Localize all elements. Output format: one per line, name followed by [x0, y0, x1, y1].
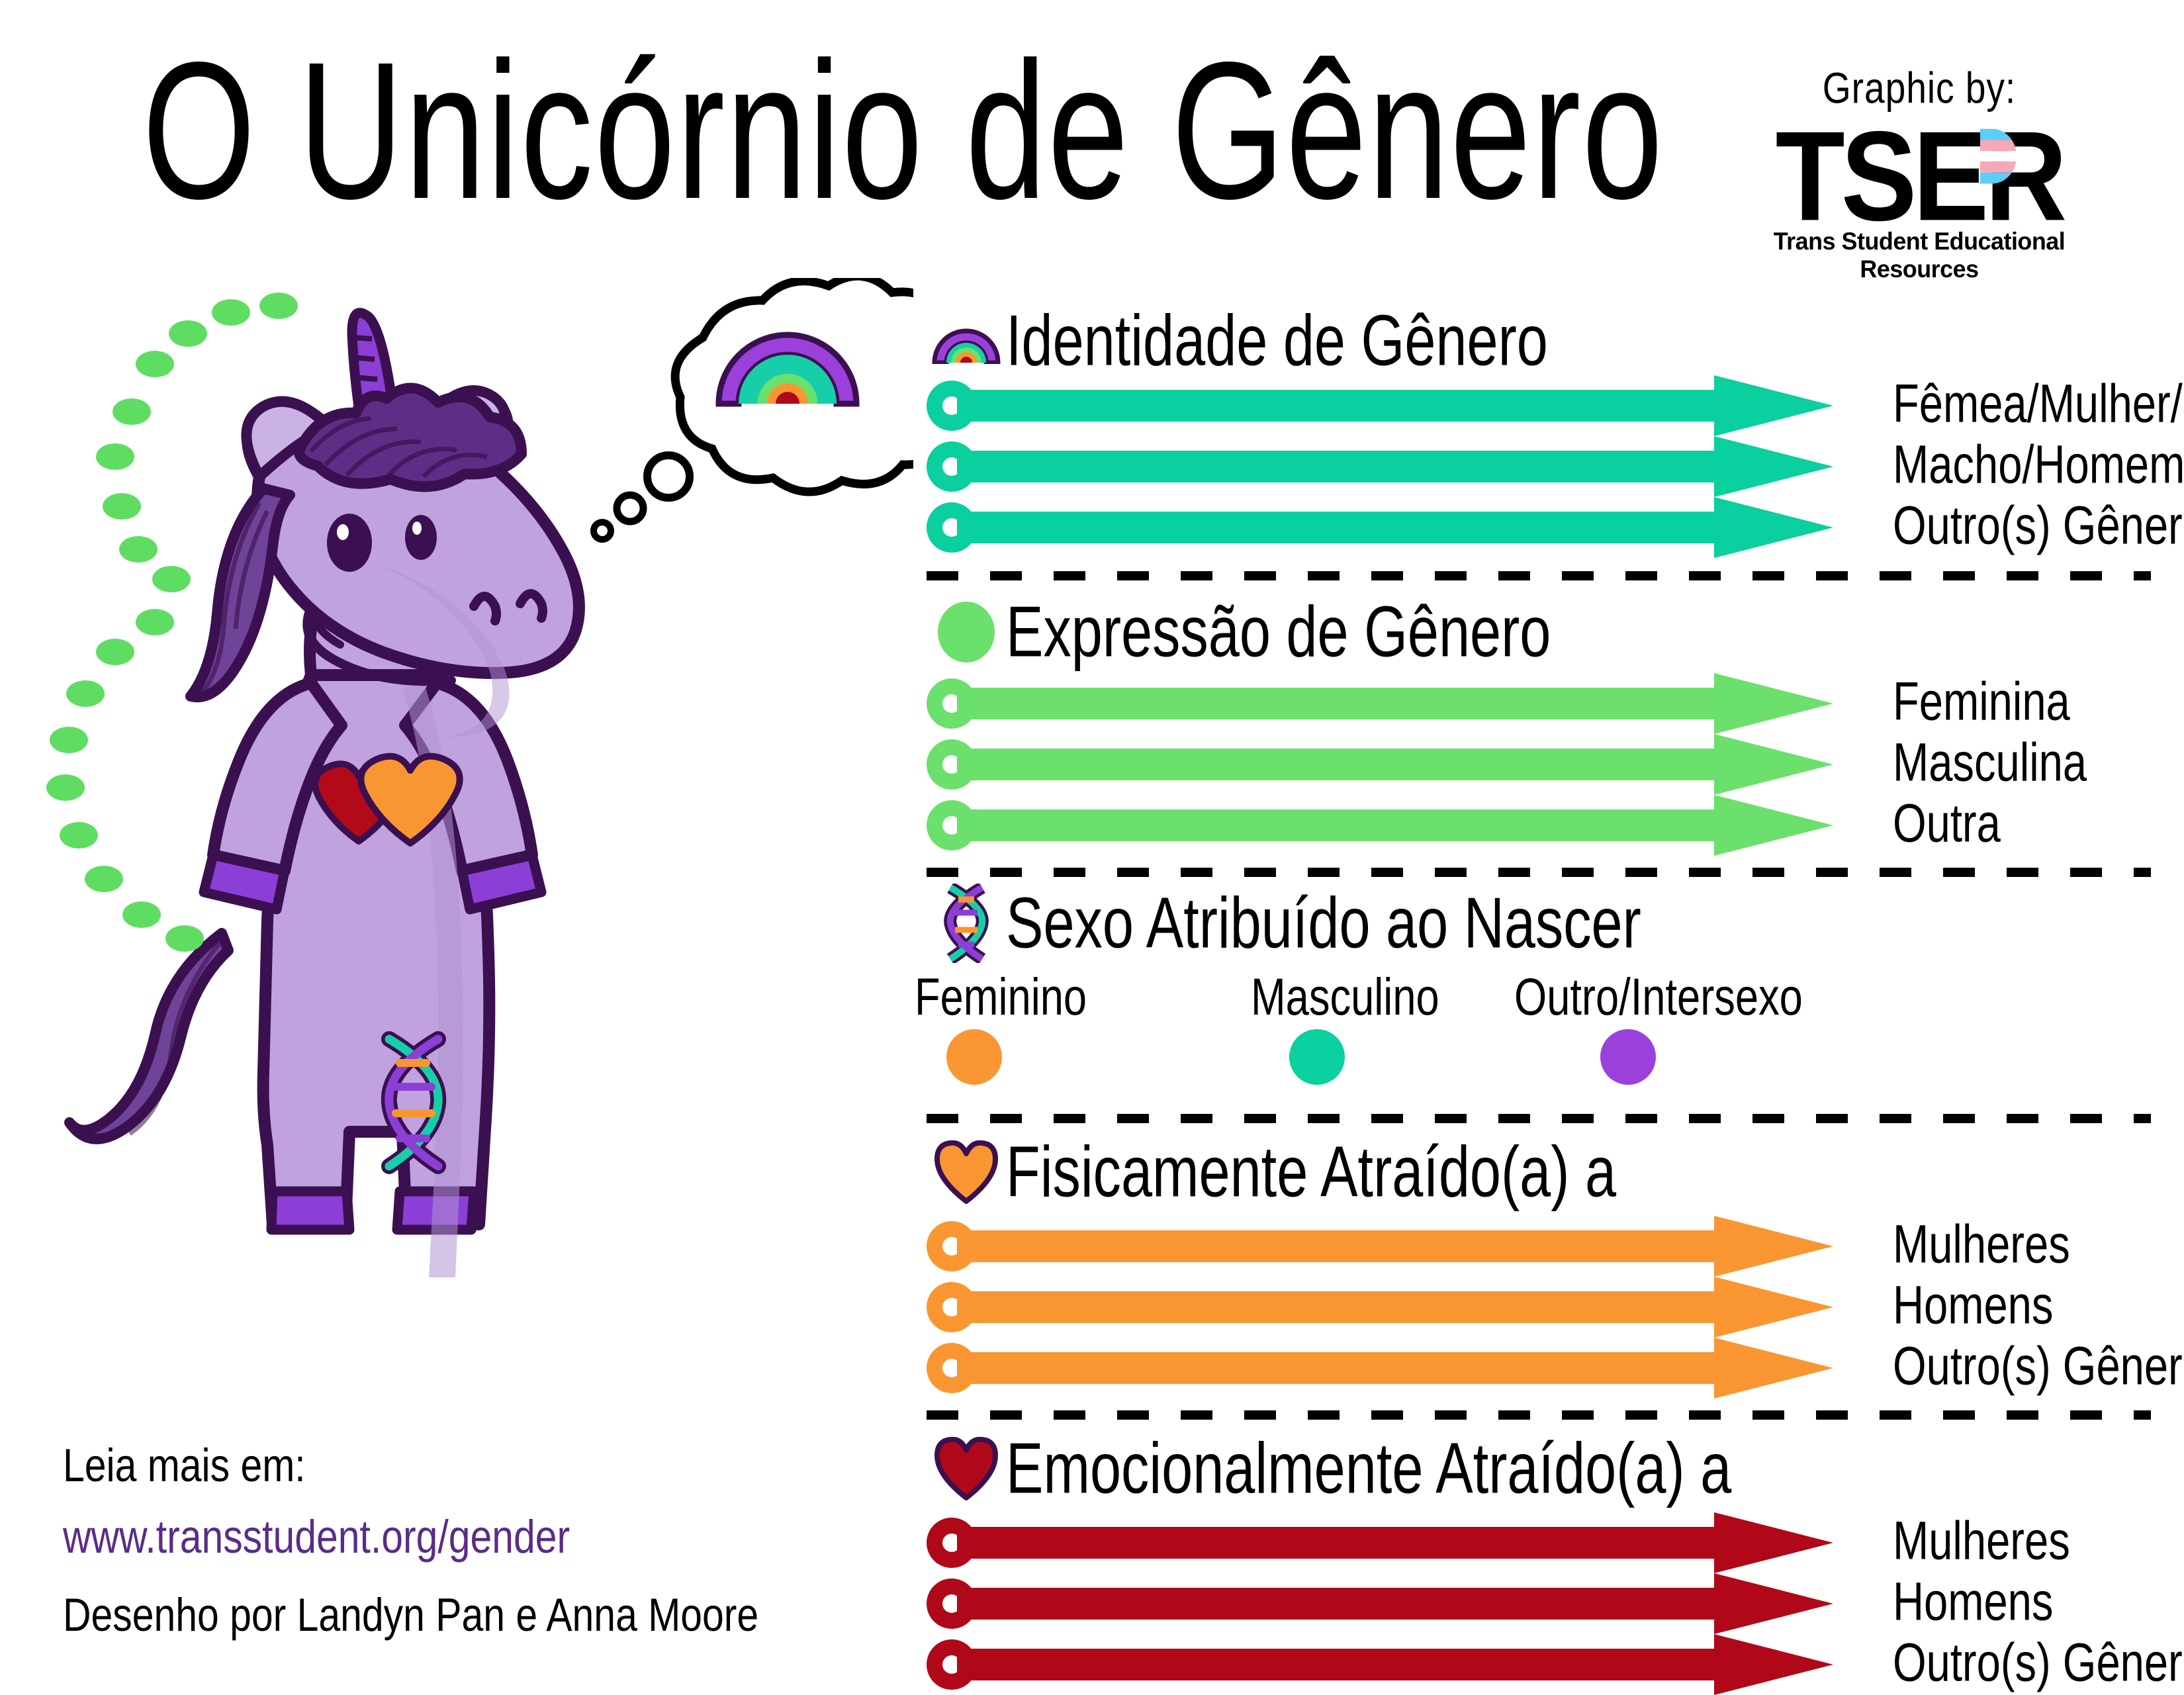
- orange-heart-icon: [927, 1140, 1006, 1204]
- arrow-label: Mulheres: [1893, 1217, 2070, 1271]
- sex-option-label-feminino: Feminino: [915, 971, 1087, 1023]
- sex-option-dot-feminino[interactable]: [946, 1029, 1002, 1085]
- arrow-label: Outra: [1893, 796, 2001, 850]
- tser-org-name: Trans Student Educational Resources: [1752, 228, 2086, 283]
- circle-icon: [927, 602, 1006, 663]
- read-more-label: Leia mais em:: [63, 1443, 758, 1490]
- sex-option-label-outro: Outro/Intersexo: [1514, 971, 1803, 1023]
- unicorn-artwork: [0, 278, 913, 1390]
- section-divider: [927, 1114, 2151, 1123]
- arrow-label: Fêmea/Mulher/Menina: [1893, 377, 2184, 430]
- red-heart-icon: [927, 1437, 1006, 1500]
- section-header-emocionalmente: Emocionalmente Atraído(a) a: [927, 1429, 1795, 1508]
- sex-option-dot-masculino[interactable]: [1289, 1029, 1345, 1085]
- infographic-canvas: O Unicórnio de Gênero Graphic by: TSER T…: [0, 0, 2184, 1688]
- arrow-label: Masculina: [1893, 735, 2087, 789]
- rainbow-icon: [927, 318, 1006, 364]
- arrow-label: Outro(s) Gênero(s): [1893, 1635, 2184, 1689]
- section-title: Identidade de Gênero: [1006, 305, 1548, 377]
- section-header-sexo: Sexo Atribuído ao Nascer: [927, 884, 1696, 963]
- section-divider: [927, 571, 2151, 580]
- section-divider: [927, 1410, 2151, 1420]
- sex-option-dot-outro[interactable]: [1600, 1029, 1656, 1085]
- section-title: Expressão de Gênero: [1006, 596, 1551, 668]
- arrow-label: Homens: [1893, 1575, 2053, 1628]
- sex-option-label-masculino: Masculino: [1251, 971, 1439, 1023]
- arrow-label: Macho/Homem/Menino: [1893, 437, 2184, 491]
- green-dot-arc: [0, 278, 344, 1271]
- tser-wordmark-text: TSER: [1776, 105, 2064, 248]
- artwork-credit: Desenho por Landyn Pan e Anna Moore: [63, 1592, 758, 1639]
- thought-bubble-icon: [594, 278, 913, 539]
- page-title: O Unicórnio de Gênero: [142, 33, 1664, 228]
- section-title: Fisicamente Atraído(a) a: [1006, 1136, 1616, 1209]
- arrow-label: Feminina: [1893, 674, 2070, 728]
- transstudent-url-link[interactable]: www.transstudent.org/gender: [63, 1514, 758, 1561]
- arrow-label: Mulheres: [1893, 1514, 2070, 1567]
- dna-icon: [927, 884, 1006, 963]
- section-title: Sexo Atribuído ao Nascer: [1006, 888, 1641, 960]
- arrow-label: Outro(s) Gênero(s): [1893, 498, 2184, 552]
- section-header-expressao: Expressão de Gênero: [927, 592, 1598, 672]
- section-title: Emocionalmente Atraído(a) a: [1006, 1433, 1731, 1505]
- arrow-label: Homens: [1893, 1278, 2053, 1332]
- section-header-identidade: Identidade de Gênero: [927, 301, 1595, 381]
- tser-logo-block: Graphic by: TSER Trans Student Education…: [1747, 63, 2091, 283]
- tser-wordmark: TSER: [1776, 113, 2064, 240]
- section-divider: [927, 868, 2151, 877]
- arrow-label: Outro(s) Gênero(s): [1893, 1339, 2184, 1393]
- footer-block: Leia mais em: www.transstudent.org/gende…: [63, 1443, 795, 1664]
- section-header-fisicamente: Fisicamente Atraído(a) a: [927, 1132, 1669, 1212]
